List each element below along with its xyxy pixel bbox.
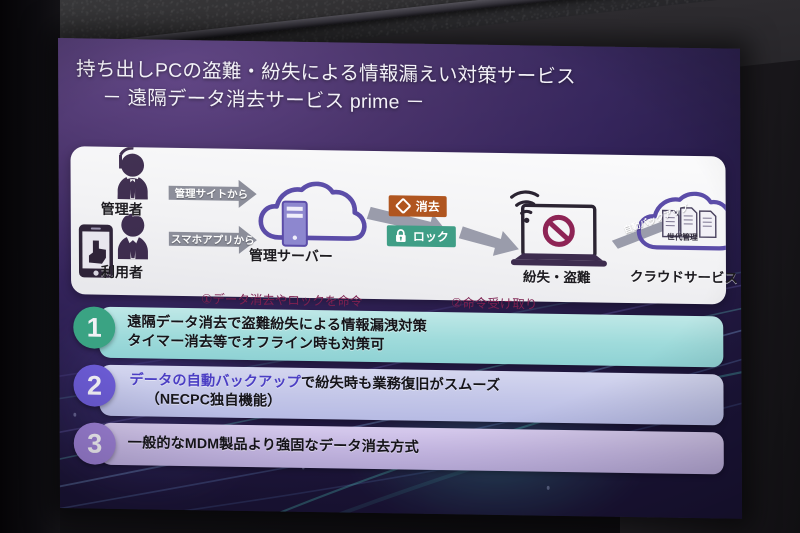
person-admin-icon xyxy=(117,148,147,200)
slide-title-line2: － 遠隔データ消去サービス prime － xyxy=(76,84,716,122)
cloud-server-icon xyxy=(261,183,365,247)
chip-lock-label: ロック xyxy=(413,228,449,246)
bullet-2-line2: （NECPC独自機能） xyxy=(130,390,712,418)
slide-title: 持ち出しPCの盗難・紛失による情報漏えい対策サービス － 遠隔データ消去サービス… xyxy=(76,56,716,121)
laptop-blocked-icon xyxy=(511,205,607,267)
bullet-3-line1: 一般的なMDM製品より強固なデータ消去方式 xyxy=(128,435,419,456)
arrow-label-smartphone-app: スマホアプリから xyxy=(171,232,261,248)
bullet-1-line1: 遠隔データ消去で盗難紛失による情報漏洩対策 xyxy=(127,314,427,335)
bullet-box-2: データの自動バックアップで紛失時も業務復旧がスムーズ （NECPC独自機能） xyxy=(99,365,723,426)
bullet-2-highlight: データの自動バックアップ xyxy=(129,372,301,391)
chip-lock: ロック xyxy=(387,225,456,247)
bullet-row-3: 3 一般的なMDM製品より強固なデータ消去方式 xyxy=(74,422,724,474)
step-1-caption: ①データ消去やロックを命令 xyxy=(201,288,362,310)
label-generation-management: 世代管理 xyxy=(667,232,698,243)
chip-erase-label: 消去 xyxy=(416,198,440,215)
photograph-of-projected-slide: 持ち出しPCの盗難・紛失による情報漏えい対策サービス － 遠隔データ消去サービス… xyxy=(0,0,800,533)
bullet-box-3: 一般的なMDM製品より強固なデータ消去方式 xyxy=(100,423,724,475)
label-user: 利用者 xyxy=(101,262,143,283)
bullet-box-1: 遠隔データ消去で盗難紛失による情報漏洩対策 タイマー消去等でオフライン時も対策可 xyxy=(99,307,723,368)
bullet-2-line1-rest: で紛失時も業務復旧がスムーズ xyxy=(301,375,500,394)
projection-screen: 持ち出しPCの盗難・紛失による情報漏えい対策サービス － 遠隔データ消去サービス… xyxy=(58,38,742,519)
label-admin: 管理者 xyxy=(101,199,143,220)
bullet-number-1: 1 xyxy=(73,306,115,349)
person-user-icon xyxy=(118,213,148,259)
slide-title-line1: 持ち出しPCの盗難・紛失による情報漏えい対策サービス xyxy=(76,58,576,88)
diagram-panel: 管理サイトから スマホアプリから 自動バックアップ 消去 ロック xyxy=(70,146,726,304)
arrow-label-admin-site: 管理サイトから xyxy=(175,186,255,202)
padlock-icon xyxy=(394,228,408,243)
bullet-number-3: 3 xyxy=(74,422,116,465)
bullet-number-2: 2 xyxy=(73,364,115,407)
bullet-1-line2: タイマー消去等でオフライン時も対策可 xyxy=(127,333,384,353)
wall-left-dark xyxy=(0,0,60,533)
bullet-row-1: 1 遠隔データ消去で盗難紛失による情報漏洩対策 タイマー消去等でオフライン時も対… xyxy=(73,306,723,367)
wifi-dot-icon xyxy=(524,218,529,223)
bullet-list: 1 遠隔データ消去で盗難紛失による情報漏洩対策 タイマー消去等でオフライン時も対… xyxy=(73,306,724,481)
arrow-to-device xyxy=(459,226,519,256)
label-management-server: 管理サーバー xyxy=(249,245,333,266)
bullet-row-2: 2 データの自動バックアップで紛失時も業務復旧がスムーズ （NECPC独自機能） xyxy=(73,364,723,425)
label-lost-stolen: 紛失・盗難 xyxy=(523,265,591,286)
step-2-caption: ②命令受け取り xyxy=(451,292,537,312)
erase-diamond-icon xyxy=(396,198,411,213)
label-cloud-service: クラウドサービス xyxy=(630,265,738,287)
slide-canvas: 持ち出しPCの盗難・紛失による情報漏えい対策サービス － 遠隔データ消去サービス… xyxy=(58,38,742,519)
chip-erase: 消去 xyxy=(389,195,447,217)
wifi-icon xyxy=(512,192,538,214)
